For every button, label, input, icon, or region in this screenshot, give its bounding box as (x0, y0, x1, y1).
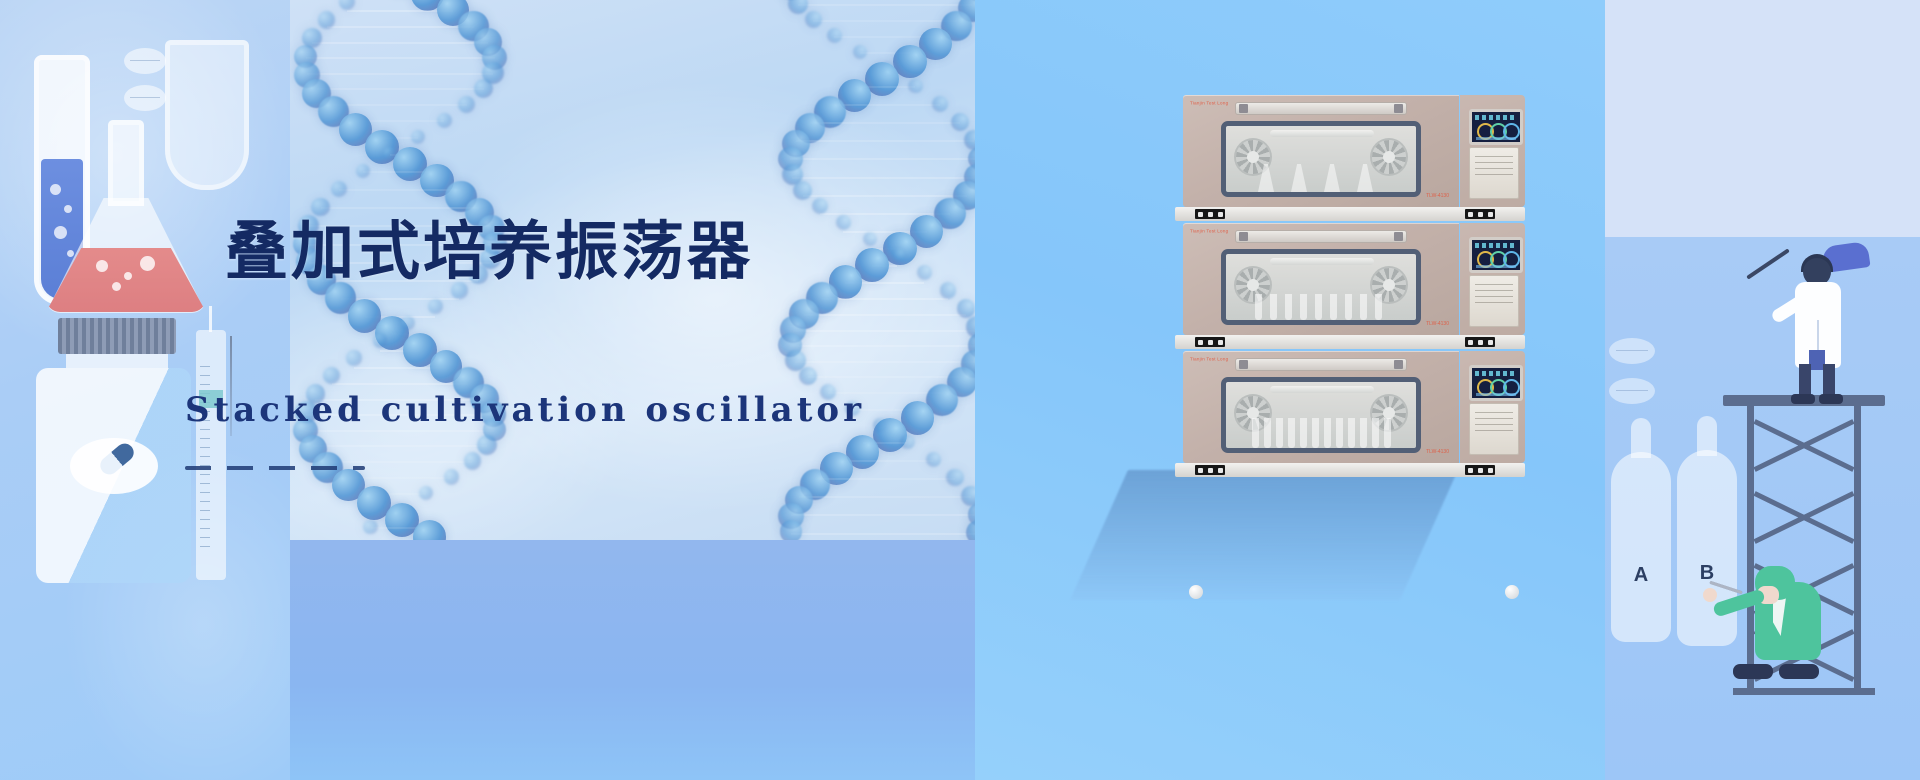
tube-item (1384, 418, 1391, 448)
interior-light-bar (1270, 258, 1374, 265)
dna-nucleotide (356, 164, 371, 179)
dna-base-pair (795, 361, 975, 363)
chamber-contents (1246, 414, 1396, 448)
figure-shoe (1791, 394, 1815, 404)
oscillator-unit: Tianjin Test Long (1183, 351, 1525, 473)
screen-bottom-bar (1476, 137, 1516, 140)
tube-item (1375, 294, 1382, 320)
dna-nucleotide (853, 45, 867, 59)
dna-base-pair (815, 478, 955, 480)
viewing-window (1221, 249, 1421, 325)
cabinet-body: Tianjin Test Long TLW-4130 (1183, 95, 1459, 207)
dna-nucleotide (964, 130, 975, 150)
screen-bottom-bar (1476, 393, 1516, 396)
dna-base-pair (793, 177, 976, 179)
document-holder-panel (1469, 147, 1519, 199)
figure-shoe (1779, 664, 1819, 679)
dna-nucleotide (812, 198, 829, 215)
dna-base-pair (328, 461, 473, 463)
dna-base-pair (313, 445, 487, 447)
dna-nucleotide (477, 435, 497, 455)
dna-base-pair (798, 4, 972, 6)
oscillator-unit: Tianjin Test Long TLW-4130 (1183, 95, 1525, 217)
right-illustration-panel: A B (1605, 0, 1920, 780)
control-screen[interactable] (1469, 109, 1523, 145)
flask-item (1324, 164, 1340, 192)
control-column (1460, 351, 1525, 463)
dna-nucleotide (799, 367, 817, 385)
doc-line (1475, 290, 1513, 291)
beaker-icon (165, 40, 249, 190)
door-handle (1235, 358, 1407, 371)
dna-nucleotide (401, 316, 415, 330)
door-handle (1235, 230, 1407, 243)
bubble (124, 272, 132, 280)
bubble (64, 205, 72, 213)
dna-nucleotide (437, 113, 452, 128)
dna-nucleotide (331, 181, 347, 197)
dna-nucleotide (946, 469, 963, 486)
bottle-cap (58, 318, 176, 354)
ampoule-a-label: A (1611, 564, 1671, 587)
chamber-contents (1246, 286, 1396, 320)
dna-base-pair (312, 42, 488, 44)
bubble (96, 260, 108, 272)
dna-base-pair (822, 298, 948, 300)
chamber-contents (1246, 158, 1396, 192)
tube-item (1276, 418, 1283, 448)
tube-item (1285, 294, 1292, 320)
decorative-dashed-rule (185, 466, 365, 470)
tube-item (1270, 294, 1277, 320)
control-column (1460, 223, 1525, 335)
dna-nucleotide (908, 79, 923, 94)
power-socket-icon (1195, 209, 1225, 219)
label-pill-icon (1609, 338, 1655, 364)
doc-line (1475, 302, 1513, 303)
page-subtitle: Stacked cultivation oscillator (185, 390, 865, 430)
dna-base-pair (305, 57, 494, 59)
dna-nucleotide (323, 367, 340, 384)
dna-base-pair (804, 314, 966, 316)
dna-nucleotide (444, 469, 460, 485)
tube-item (1300, 294, 1307, 320)
tube-item (1252, 418, 1259, 448)
dna-base-pair (796, 140, 974, 142)
doc-line (1475, 156, 1513, 157)
doc-line (1475, 296, 1513, 297)
dna-nucleotide (474, 79, 493, 98)
bubble (54, 226, 67, 239)
power-socket-icon (1195, 465, 1225, 475)
dna-nucleotide (788, 0, 808, 14)
dna-nucleotide (346, 350, 361, 365)
flask-neck (108, 120, 144, 206)
unit-base-rail (1175, 463, 1525, 477)
dna-nucleotide (339, 0, 355, 10)
unit-base-rail (1175, 335, 1525, 349)
screen-bottom-bar (1476, 265, 1516, 268)
dna-nucleotide (805, 11, 822, 28)
dna-base-pair (791, 514, 975, 516)
dna-base-pair (813, 20, 957, 22)
dna-panel-lower-band (290, 540, 975, 780)
tube-item (1324, 418, 1331, 448)
dna-nucleotide (464, 452, 482, 470)
flask-item (1291, 164, 1307, 192)
interior-light-bar (1270, 386, 1374, 393)
tube-item (1345, 294, 1352, 320)
tube-item (1348, 418, 1355, 448)
product-banner: A B (0, 0, 1920, 780)
dna-nucleotide (900, 435, 914, 449)
caster-wheel-icon (1505, 585, 1519, 599)
control-screen[interactable] (1469, 365, 1523, 401)
dna-base-pair (307, 73, 493, 75)
bubble (67, 250, 74, 257)
scaffold-cross-brace (1749, 479, 1859, 551)
figure-shoe (1819, 394, 1843, 404)
tube-item (1264, 418, 1271, 448)
document-holder-panel (1469, 275, 1519, 327)
screen-status-row (1475, 371, 1517, 376)
unit-base-rail (1175, 207, 1525, 221)
tube-item (1330, 294, 1337, 320)
doc-line (1475, 424, 1513, 425)
banner-text-block: 叠加式培养振荡器 Stacked cultivation oscillator (225, 218, 945, 284)
dna-base-pair (326, 26, 473, 28)
syringe-needle (209, 306, 212, 332)
scaffold-cross-brace (1749, 407, 1859, 479)
dna-nucleotide (373, 333, 387, 347)
tube-item (1336, 418, 1343, 448)
dna-nucleotide (932, 96, 948, 112)
dna-base-pair (332, 383, 468, 385)
ampoule-a-icon: A (1611, 452, 1671, 642)
dna-nucleotide (428, 299, 443, 314)
stacked-cultivation-oscillator-image: Tianjin Test Long TLW-4130 (1183, 95, 1525, 595)
scientist-white-coat-figure (1765, 246, 1875, 406)
right-panel-top-band (1605, 0, 1920, 237)
bubble (50, 184, 61, 195)
viewing-window (1221, 377, 1421, 453)
tube-item (1372, 418, 1379, 448)
oscillator-unit: Tianjin Test Long (1183, 223, 1525, 345)
brand-label: Tianjin Test Long (1190, 357, 1228, 362)
dna-nucleotide (957, 299, 975, 318)
dna-base-pair (793, 330, 975, 332)
dna-base-pair (799, 496, 970, 498)
flask-item (1357, 164, 1373, 192)
figure-leg (1799, 364, 1811, 398)
model-label: TLW-4130 (1426, 449, 1449, 455)
tube-item (1360, 418, 1367, 448)
dna-base-pair (316, 88, 483, 90)
interior-light-bar (1270, 130, 1374, 137)
dna-nucleotide (419, 486, 433, 500)
dna-base-pair (808, 376, 962, 378)
dna-nucleotide (780, 520, 803, 540)
syringe-icon (196, 330, 226, 580)
dna-nucleotide (458, 96, 475, 113)
screen-status-row (1475, 243, 1517, 248)
medicine-bottle-icon (36, 318, 191, 583)
model-label: TLW-4130 (1426, 193, 1449, 199)
bubble (112, 282, 121, 291)
document-holder-panel (1469, 403, 1519, 455)
doc-line (1475, 430, 1513, 431)
dna-base-pair (339, 189, 461, 191)
doc-line (1475, 412, 1513, 413)
figure-hand (1703, 588, 1717, 602)
dna-base-pair (791, 533, 975, 535)
tube-item (1360, 294, 1367, 320)
bottle-neck (66, 354, 168, 368)
tube-item (1315, 294, 1322, 320)
dna-base-pair (321, 207, 480, 209)
dna-nucleotide (926, 452, 941, 467)
dna-base-pair (790, 158, 975, 160)
dna-nucleotide (318, 11, 336, 29)
cabinet-body: Tianjin Test Long (1183, 223, 1459, 335)
dna-nucleotide (827, 28, 843, 44)
dna-base-pair (790, 345, 975, 347)
flask-item (1258, 164, 1274, 192)
doc-line (1475, 418, 1513, 419)
viewing-window (1221, 121, 1421, 197)
caster-wheel-icon (1189, 585, 1203, 599)
page-title: 叠加式培养振荡器 (225, 218, 945, 284)
dna-base-pair (830, 104, 940, 106)
doc-line (1475, 162, 1513, 163)
scientist-green-coat-figure (1727, 560, 1847, 690)
doc-line (1475, 168, 1513, 169)
label-pill-icon (1609, 378, 1655, 404)
tube-item (1255, 294, 1262, 320)
dna-nucleotide (951, 113, 969, 131)
dna-base-pair (803, 195, 967, 197)
tube-item (1288, 418, 1295, 448)
dna-nucleotide (940, 282, 957, 299)
dna-nucleotide (411, 130, 425, 144)
dna-nucleotide (961, 486, 975, 506)
power-socket-icon (1465, 465, 1495, 475)
dna-base-pair (810, 122, 961, 124)
figure-shoe (1733, 664, 1773, 679)
tube-item (1300, 418, 1307, 448)
doc-line (1475, 174, 1513, 175)
dna-nucleotide (793, 181, 812, 200)
power-socket-icon (1195, 337, 1225, 347)
figure-leg (1823, 364, 1835, 398)
tube-item (1312, 418, 1319, 448)
bubble (140, 256, 155, 271)
label-pill-icon (124, 48, 166, 74)
model-label: TLW-4130 (1426, 321, 1449, 327)
control-column (1460, 95, 1525, 207)
screen-status-row (1475, 115, 1517, 120)
brand-label: Tianjin Test Long (1190, 229, 1228, 234)
label-pill-icon (124, 85, 166, 111)
door-handle (1235, 102, 1407, 115)
equipment-ground-shadow (1070, 470, 1458, 600)
power-socket-icon (1465, 209, 1495, 219)
doc-line (1475, 284, 1513, 285)
cabinet-body: Tianjin Test Long (1183, 351, 1459, 463)
brand-label: Tianjin Test Long (1190, 101, 1228, 106)
dna-base-pair (333, 104, 467, 106)
control-screen[interactable] (1469, 237, 1523, 273)
power-socket-icon (1465, 337, 1495, 347)
